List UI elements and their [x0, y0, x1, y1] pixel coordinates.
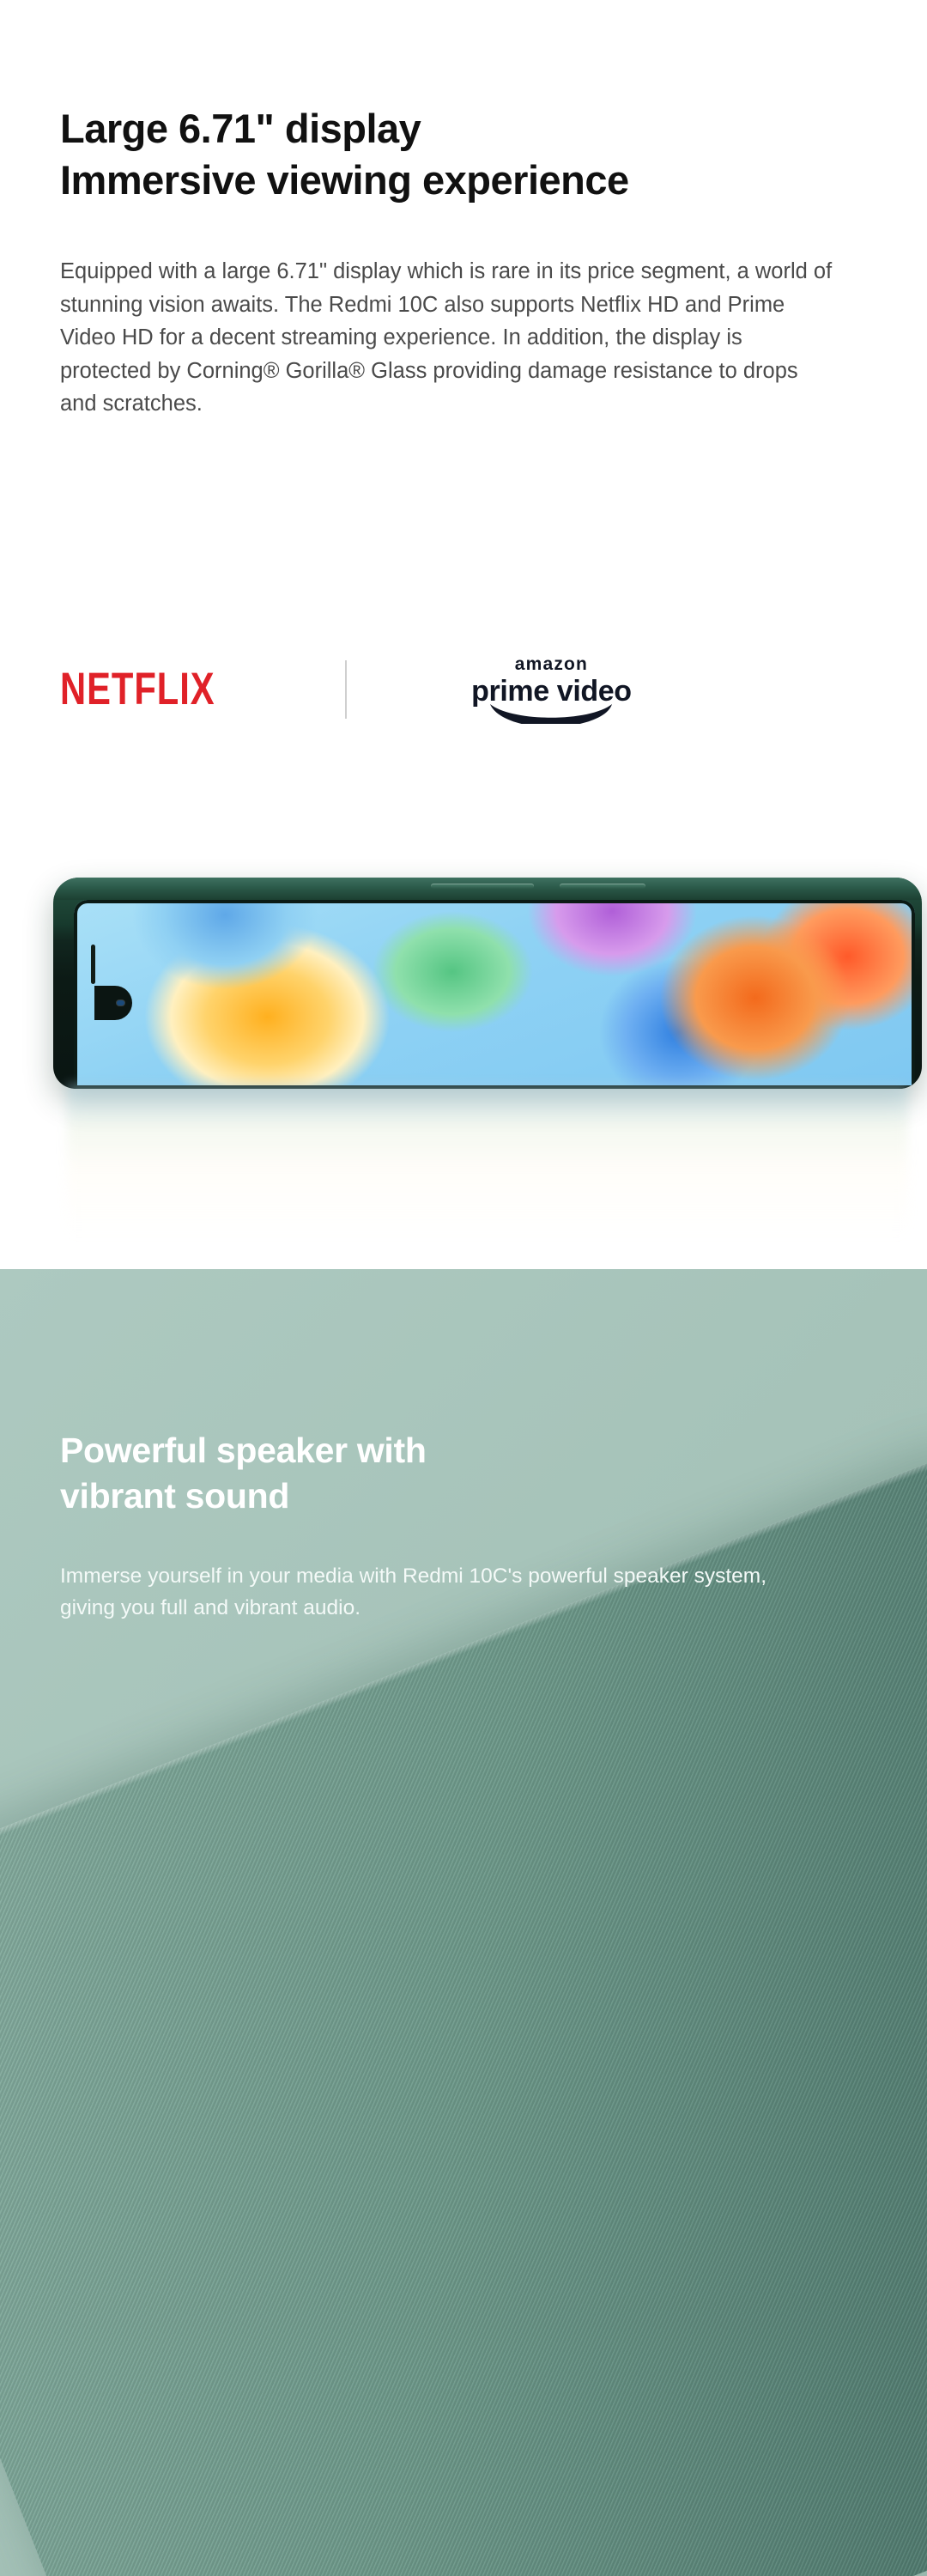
amazon-smile-icon — [487, 702, 615, 724]
netflix-logo: NETFLIX — [60, 667, 215, 712]
streaming-partner-logos: NETFLIX amazon prime video — [60, 655, 632, 724]
phone-reflection — [67, 1084, 908, 1252]
display-phone-image — [0, 850, 927, 1269]
display-body-text: Equipped with a large 6.71" display whic… — [60, 255, 837, 421]
speaker-body-text: Immerse yourself in your media with Redm… — [60, 1560, 815, 1624]
earpiece-icon — [91, 945, 95, 984]
volume-button-icon — [431, 884, 534, 889]
power-button-icon — [560, 884, 645, 889]
speaker-heading: Powerful speaker with vibrant sound — [60, 1428, 867, 1519]
amazon-prime-video-logo: amazon prime video — [471, 655, 631, 724]
amazon-wordmark: amazon — [515, 655, 588, 673]
speaker-feature-section: Powerful speaker with vibrant sound Imme… — [0, 1269, 927, 2576]
phone-front-device — [53, 878, 922, 1089]
display-feature-section: Large 6.71" display Immersive viewing ex… — [0, 0, 927, 1269]
display-heading: Large 6.71" display Immersive viewing ex… — [60, 103, 867, 206]
speaker-copy-block: Powerful speaker with vibrant sound Imme… — [60, 1428, 867, 1624]
phone-screen-wallpaper — [74, 900, 915, 1089]
logo-divider — [345, 660, 347, 719]
camera-notch-icon — [94, 986, 132, 1020]
display-copy-block: Large 6.71" display Immersive viewing ex… — [60, 103, 867, 421]
product-feature-page: Large 6.71" display Immersive viewing ex… — [0, 0, 927, 2576]
